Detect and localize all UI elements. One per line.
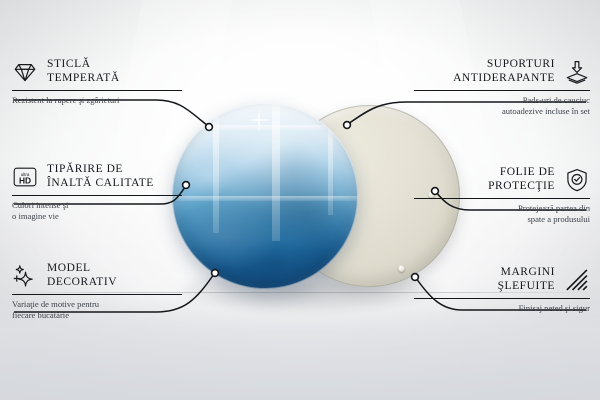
feature-rule [414,198,590,199]
feature-rule [414,90,590,91]
feature-subtitle: Pads-uri de cauciuc autoadezive incluse … [414,95,590,116]
front-board-rim [172,103,358,289]
feature-subtitle: Culori intense şi o imagine vie [12,200,182,221]
feature-subtitle: Rezistent la rupere şi zgârieturi [12,95,182,106]
feature-rule [414,298,590,299]
feature-rule [12,195,182,196]
feature-rule [12,90,182,91]
front-board-blue [172,103,358,289]
feature-tempered-glass: STICLĂ TEMPERATĂ Rezistent la rupere şi … [12,58,182,106]
feature-title: STICLĂ TEMPERATĂ [47,58,120,85]
feature-polished-edges: MARGINI ŞLEFUITE Finisaj neted şi sigur [414,266,590,314]
feature-high-quality-print: ultra HD TIPĂRIRE DE ÎNALTĂ CALITATE Cul… [12,163,182,222]
feature-title: FOLIE DE PROTECŢIE [488,166,555,193]
feature-title: MARGINI ŞLEFUITE [498,266,555,293]
feature-decorative-model: MODEL DECORATIV Variaţie de motive pentr… [12,262,182,321]
diamond-icon [12,59,38,85]
svg-text:HD: HD [19,175,31,185]
feature-protective-film: FOLIE DE PROTECŢIE Protejează partea din… [414,166,590,225]
diagonal-lines-icon [564,267,590,293]
feature-subtitle: Variaţie de motive pentru fiecare bucătă… [12,299,182,320]
feature-subtitle: Protejează partea din spate a produsului [414,203,590,224]
rubber-pad [398,265,405,272]
feature-title: MODEL DECORATIV [47,262,117,289]
feature-subtitle: Finisaj neted şi sigur [414,303,590,314]
pad-stack-arrow-icon [564,59,590,85]
product-infographic: STICLĂ TEMPERATĂ Rezistent la rupere şi … [0,0,600,400]
shield-check-icon [564,167,590,193]
ultra-hd-icon: ultra HD [12,164,38,190]
feature-title: SUPORTURI ANTIDERAPANTE [453,58,555,85]
feature-title: TIPĂRIRE DE ÎNALTĂ CALITATE [47,163,154,190]
sparkle-icon [12,263,38,289]
feature-anti-slip-supports: SUPORTURI ANTIDERAPANTE Pads-uri de cauc… [414,58,590,117]
feature-rule [12,294,182,295]
